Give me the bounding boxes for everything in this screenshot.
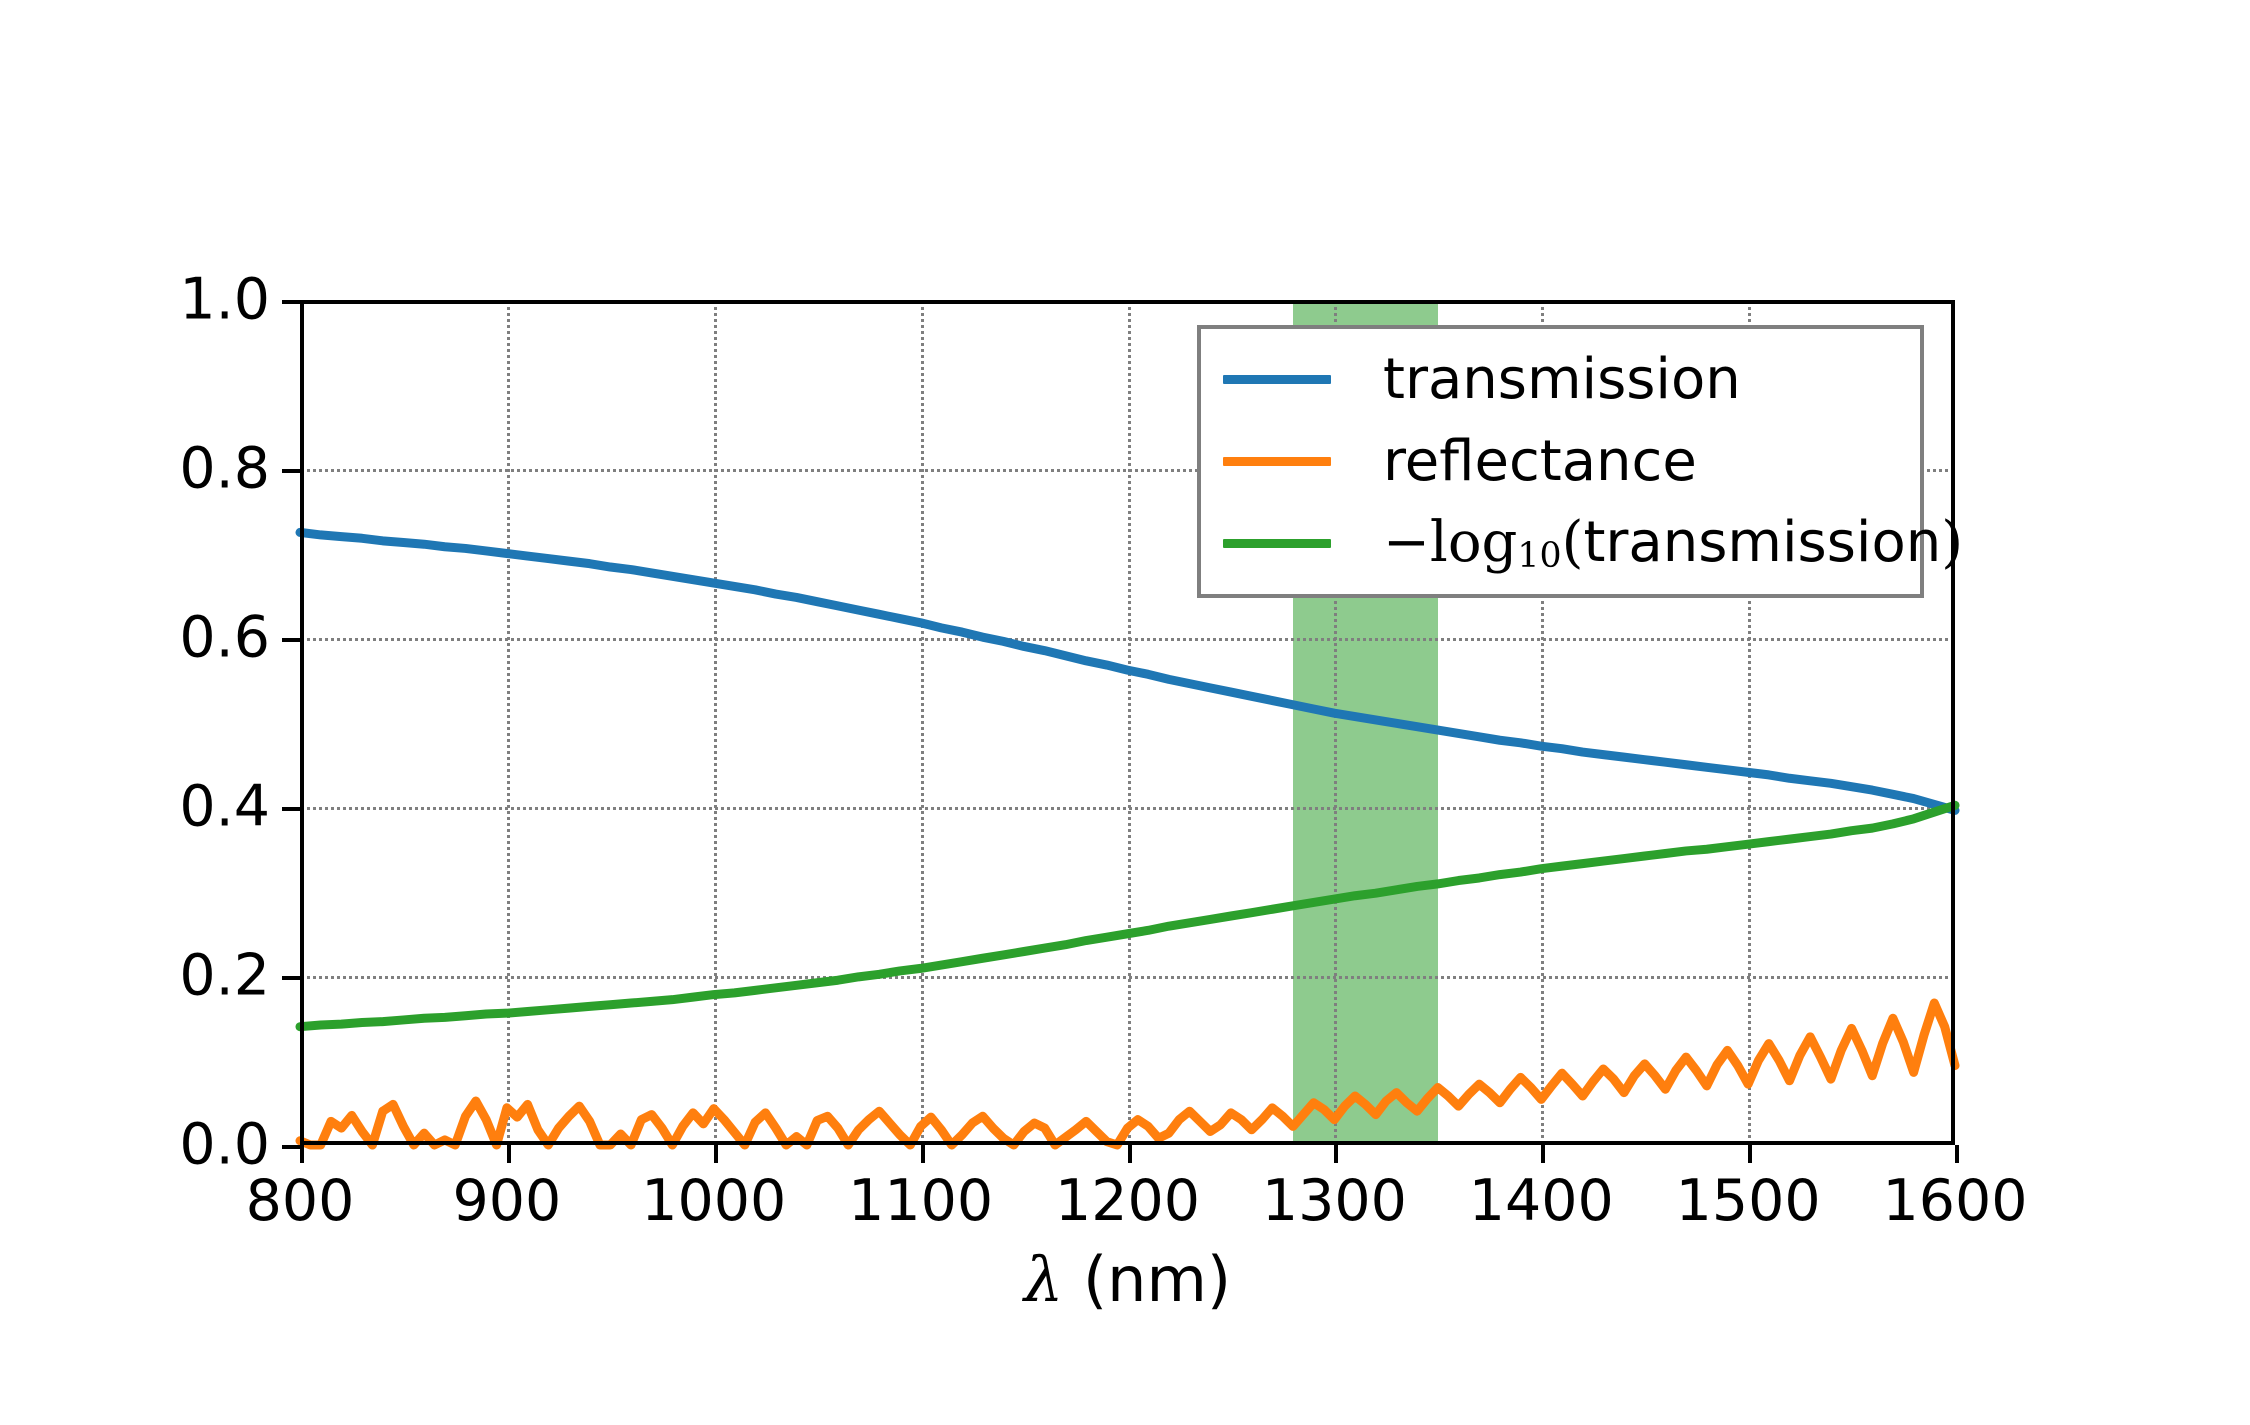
x-tick-label: 800 — [246, 1173, 355, 1230]
y-tick-label: 0.0 — [179, 1117, 270, 1174]
series-line-1 — [300, 1003, 1955, 1145]
y-tick-label: 1.0 — [179, 272, 270, 329]
x-tick-mark — [921, 1145, 925, 1163]
x-tick-mark — [1955, 1145, 1959, 1163]
x-tick-mark — [1334, 1145, 1338, 1163]
x-axis-label: λ (nm) — [300, 1243, 1955, 1316]
y-tick-mark — [282, 807, 300, 811]
y-tick-mark — [282, 976, 300, 980]
series-line-2 — [300, 805, 1955, 1026]
y-tick-label: 0.4 — [179, 779, 270, 836]
legend-box: transmission reflectance −log10(transmis… — [1197, 325, 1924, 598]
x-tick-mark — [1128, 1145, 1132, 1163]
x-tick-label: 1400 — [1469, 1173, 1614, 1230]
lambda-symbol: λ — [1024, 1243, 1063, 1316]
y-tick-mark — [282, 300, 300, 304]
x-tick-label: 1300 — [1262, 1173, 1407, 1230]
x-tick-label: 1200 — [1055, 1173, 1200, 1230]
y-tick-label: 0.6 — [179, 610, 270, 667]
y-tick-label: 0.2 — [179, 948, 270, 1005]
legend-swatch-neg-log10-transmission — [1223, 539, 1331, 548]
legend-item-neg-log10-transmission: −log10(transmission) — [1201, 502, 1920, 584]
x-tick-label: 1500 — [1676, 1173, 1821, 1230]
y-tick-mark — [282, 638, 300, 642]
y-tick-mark — [282, 1145, 300, 1149]
legend-item-transmission: transmission — [1201, 339, 1920, 421]
legend-item-reflectance: reflectance — [1201, 421, 1920, 503]
x-tick-label: 1100 — [848, 1173, 993, 1230]
x-tick-mark — [1748, 1145, 1752, 1163]
x-tick-label: 1000 — [641, 1173, 786, 1230]
y-tick-mark — [282, 469, 300, 473]
x-tick-label: 900 — [452, 1173, 561, 1230]
x-tick-mark — [714, 1145, 718, 1163]
x-tick-label: 1600 — [1882, 1173, 2027, 1230]
legend-swatch-reflectance — [1223, 457, 1331, 466]
figure-canvas: 0.00.20.40.60.81.0 800900100011001200130… — [0, 0, 2250, 1425]
legend-swatch-transmission — [1223, 375, 1331, 384]
legend-label-transmission: transmission — [1383, 347, 1741, 412]
x-tick-mark — [300, 1145, 304, 1163]
x-tick-mark — [507, 1145, 511, 1163]
legend-label-neg-log10-transmission: −log10(transmission) — [1383, 510, 1963, 576]
y-tick-label: 0.8 — [179, 441, 270, 498]
x-tick-mark — [1541, 1145, 1545, 1163]
x-axis-unit: (nm) — [1083, 1243, 1231, 1316]
legend-label-reflectance: reflectance — [1383, 429, 1697, 494]
